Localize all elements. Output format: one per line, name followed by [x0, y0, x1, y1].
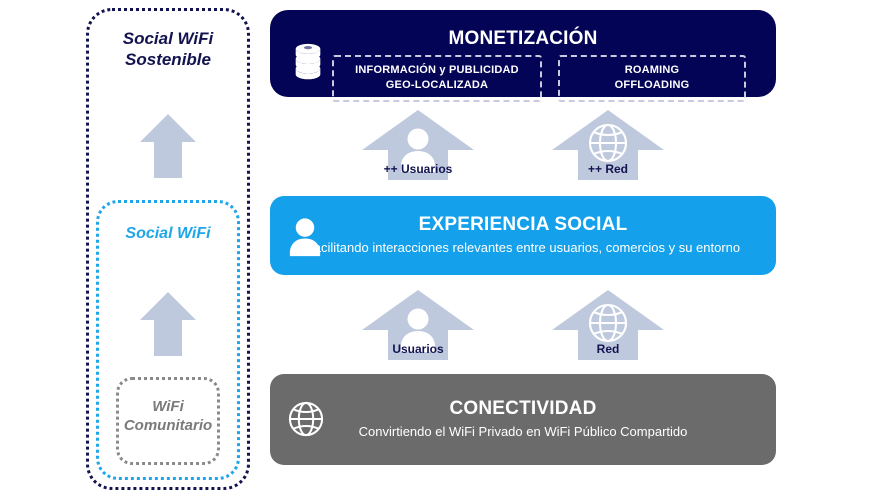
monetizacion-box-info-publicidad[interactable]: INFORMACIÓN y PUBLICIDAD GEO-LOCALIZADA: [332, 55, 542, 102]
layer-conectividad: CONECTIVIDAD Convirtiendo el WiFi Privad…: [270, 374, 776, 465]
flow-arrow-usuarios: Usuarios: [362, 290, 474, 360]
maturity-tier-label-comunitario: WiFi Comunitario: [116, 398, 220, 436]
maturity-tier-label-social-wifi: Social WiFi: [96, 224, 240, 244]
diagram-canvas: Social WiFi Sostenible Social WiFi WiFi …: [0, 0, 886, 498]
flow-arrow-label-red: Red: [552, 342, 664, 356]
layer-title-conectividad: CONECTIVIDAD: [270, 398, 776, 420]
up-arrow-icon: [138, 290, 198, 358]
flow-arrow-red: Red: [552, 290, 664, 360]
layer-experiencia-social: EXPERIENCIA SOCIAL Facilitando interacci…: [270, 196, 776, 275]
layer-monetizacion: MONETIZACIÓN INFORMACIÓN y PUBLICIDAD GE…: [270, 10, 776, 97]
layer-title-experiencia-social: EXPERIENCIA SOCIAL: [270, 214, 776, 236]
flow-arrow-label-red-plus: ++ Red: [552, 162, 664, 176]
flow-arrow-red-plus: ++ Red: [552, 110, 664, 180]
up-arrow-icon: [138, 112, 198, 180]
maturity-tier-label-sostenible: Social WiFi Sostenible: [86, 28, 250, 71]
layer-subtitle-conectividad: Convirtiendo el WiFi Privado en WiFi Púb…: [270, 424, 776, 439]
flow-arrow-usuarios-plus: ++ Usuarios: [362, 110, 474, 180]
monetizacion-box-roaming-offloading[interactable]: ROAMING OFFLOADING: [558, 55, 746, 102]
flow-arrow-label-usuarios-plus: ++ Usuarios: [362, 162, 474, 176]
layer-title-monetizacion: MONETIZACIÓN: [270, 28, 776, 50]
flow-arrow-label-usuarios: Usuarios: [362, 342, 474, 356]
monetizacion-box-group: INFORMACIÓN y PUBLICIDAD GEO-LOCALIZADA …: [332, 55, 696, 102]
layer-subtitle-experiencia-social: Facilitando interacciones relevantes ent…: [270, 240, 776, 255]
